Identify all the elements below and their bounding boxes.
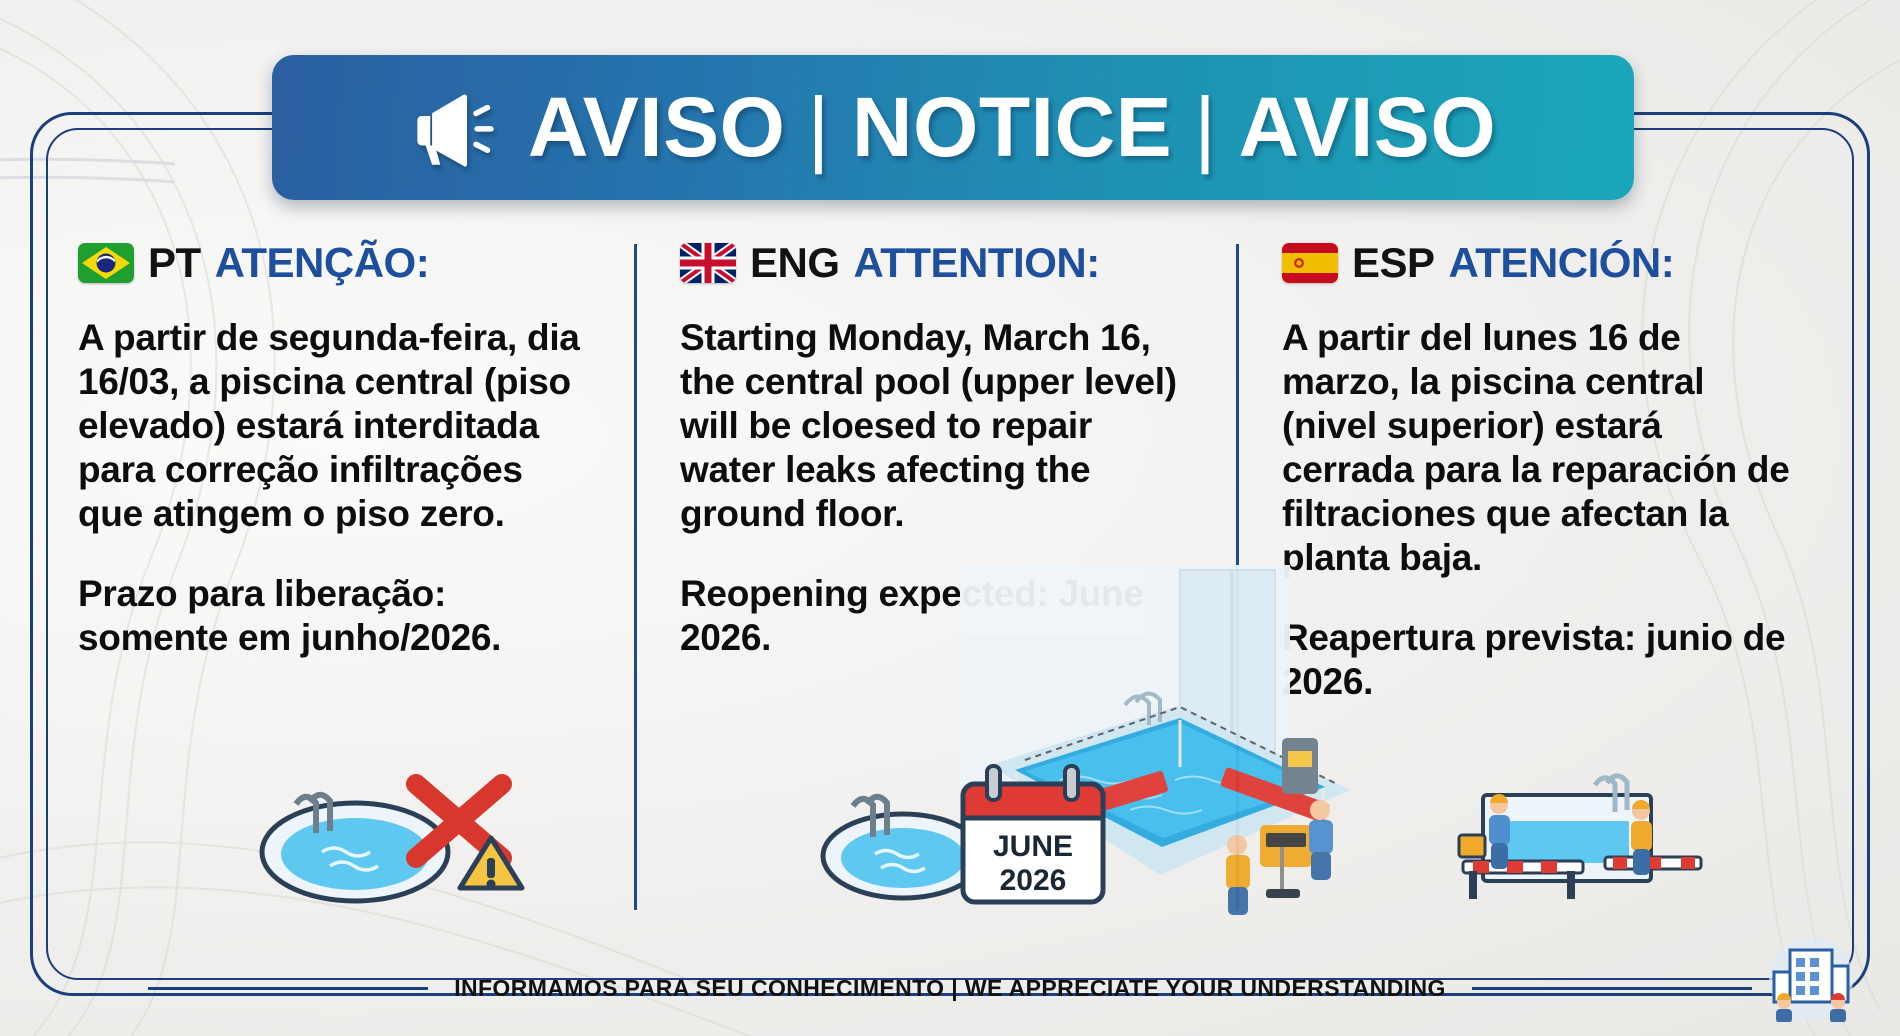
column-esp-paragraph-2: Reapertura prevista: junio de 2026.: [1282, 616, 1796, 704]
united-kingdom-flag-icon: [680, 243, 736, 283]
column-esp-code: ESP: [1352, 239, 1435, 287]
banner-title-pt: AVISO: [528, 79, 786, 176]
spain-flag-icon: [1282, 243, 1338, 283]
language-columns: PT ATENÇÃO: A partir de segunda-feira, d…: [78, 232, 1838, 952]
column-pt-paragraph-2: Prazo para liberação: somente em junho/2…: [78, 572, 592, 660]
footer: INFORMAMOS PARA SEU CONHECIMENTO | WE AP…: [0, 975, 1900, 1002]
banner-separator-1: |: [808, 79, 830, 176]
footer-rule-right: [1472, 987, 1752, 990]
footer-rule-left: [148, 987, 428, 990]
brazil-flag-icon: [78, 243, 134, 283]
footer-text: INFORMAMOS PARA SEU CONHECIMENTO | WE AP…: [454, 975, 1446, 1002]
column-esp-keyword: ATENCIÓN:: [1449, 239, 1675, 287]
notice-banner: AVISO | NOTICE | AVISO: [272, 55, 1634, 200]
banner-title-esp: AVISO: [1239, 79, 1497, 176]
poster-canvas: AVISO | NOTICE | AVISO PT ATENÇÃO:: [0, 0, 1900, 1036]
column-pt-keyword: ATENÇÃO:: [215, 239, 430, 287]
banner-title-eng: NOTICE: [852, 79, 1172, 176]
column-esp: ESP ATENCIÓN: A partir del lunes 16 de m…: [1236, 232, 1838, 952]
column-pt: PT ATENÇÃO: A partir de segunda-feira, d…: [78, 232, 634, 952]
column-eng: ENG ATTENTION: Starting Monday, March 16…: [634, 232, 1236, 952]
column-eng-paragraph-1: Starting Monday, March 16, the central p…: [680, 316, 1194, 536]
column-eng-keyword: ATTENTION:: [854, 239, 1100, 287]
column-eng-paragraph-2: Reopening expected: June 2026.: [680, 572, 1194, 660]
column-eng-header: ENG ATTENTION:: [680, 232, 1194, 294]
column-pt-header: PT ATENÇÃO:: [78, 232, 592, 294]
building-brand-logo: [1756, 936, 1866, 1022]
column-pt-paragraph-1: A partir de segunda-feira, dia 16/03, a …: [78, 316, 592, 536]
column-pt-code: PT: [148, 239, 201, 287]
column-divider-2: [1236, 244, 1239, 910]
banner-title: AVISO | NOTICE | AVISO: [528, 79, 1496, 176]
column-esp-paragraph-1: A partir del lunes 16 de marzo, la pisci…: [1282, 316, 1796, 580]
banner-separator-2: |: [1194, 79, 1216, 176]
column-eng-code: ENG: [750, 239, 840, 287]
megaphone-icon: [410, 89, 502, 167]
column-esp-header: ESP ATENCIÓN:: [1282, 232, 1796, 294]
column-divider-1: [634, 244, 637, 910]
